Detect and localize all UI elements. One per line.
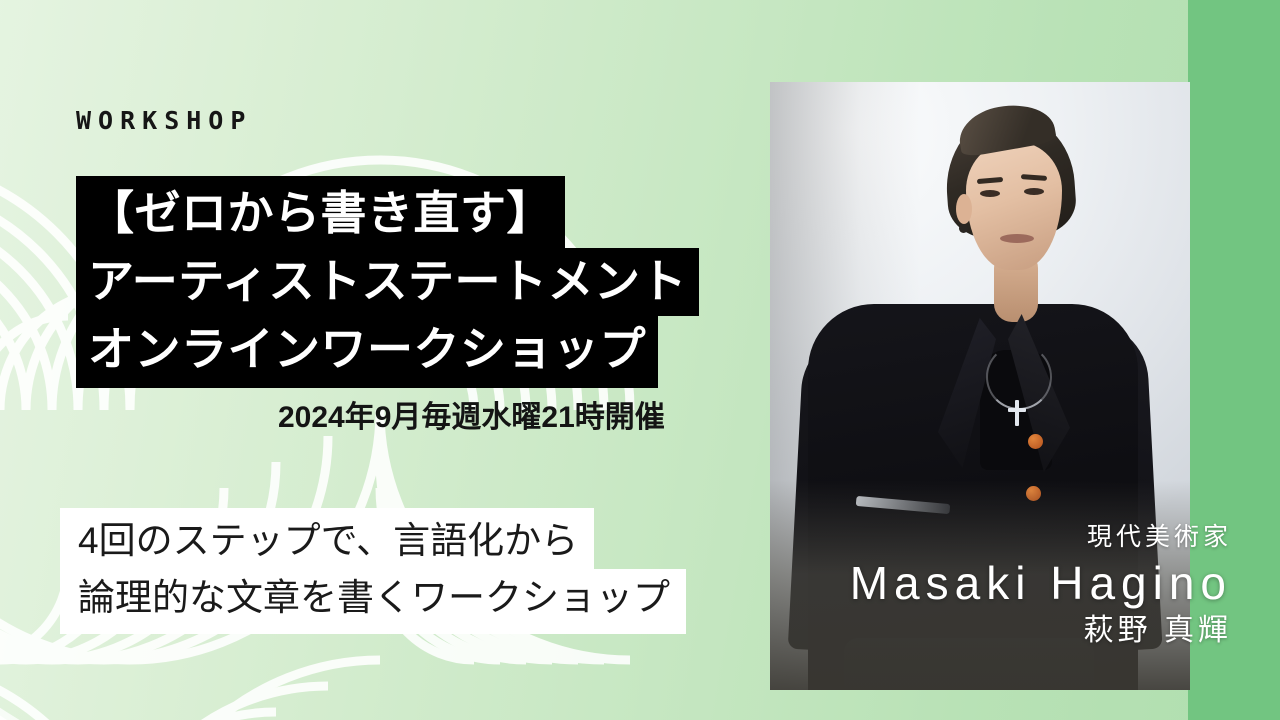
portrait-cross-pendant-bar [1008, 408, 1026, 412]
artist-name-japanese: 萩野 真輝 [850, 613, 1232, 649]
poster-canvas: WORKSHOP 【ゼロから書き直す】 アーティストステートメント オンラインワ… [0, 0, 1280, 720]
portrait-left-eye [980, 190, 1000, 197]
portrait-earring [959, 224, 968, 233]
artist-credit: 現代美術家 Masaki Hagino 萩野 真輝 [850, 524, 1232, 649]
portrait-jacket-button-top [1028, 434, 1043, 449]
artist-role: 現代美術家 [850, 524, 1232, 552]
subtitle-line-2: 論理的な文章を書くワークショップ [60, 569, 686, 634]
portrait-cross-pendant [1015, 400, 1019, 426]
portrait-face [966, 142, 1062, 270]
title-block: 【ゼロから書き直す】 アーティストステートメント オンラインワークショップ [76, 176, 699, 388]
portrait-right-eye [1024, 188, 1044, 195]
eyebrow-label: WORKSHOP [76, 106, 252, 135]
title-line-1: 【ゼロから書き直す】 [76, 176, 565, 248]
subtitle-line-1: 4回のステップで、言語化から [60, 508, 594, 569]
artist-name-english: Masaki Hagino [850, 558, 1232, 610]
subtitle-block: 4回のステップで、言語化から 論理的な文章を書くワークショップ [60, 508, 686, 634]
title-line-3: オンラインワークショップ [76, 316, 658, 388]
portrait-ear [956, 194, 972, 224]
event-date-line: 2024年9月毎週水曜21時開催 [278, 392, 665, 436]
title-line-2: アーティストステートメント [76, 248, 699, 316]
portrait-necklace-chain [986, 344, 1052, 410]
portrait-mouth [1000, 234, 1034, 243]
